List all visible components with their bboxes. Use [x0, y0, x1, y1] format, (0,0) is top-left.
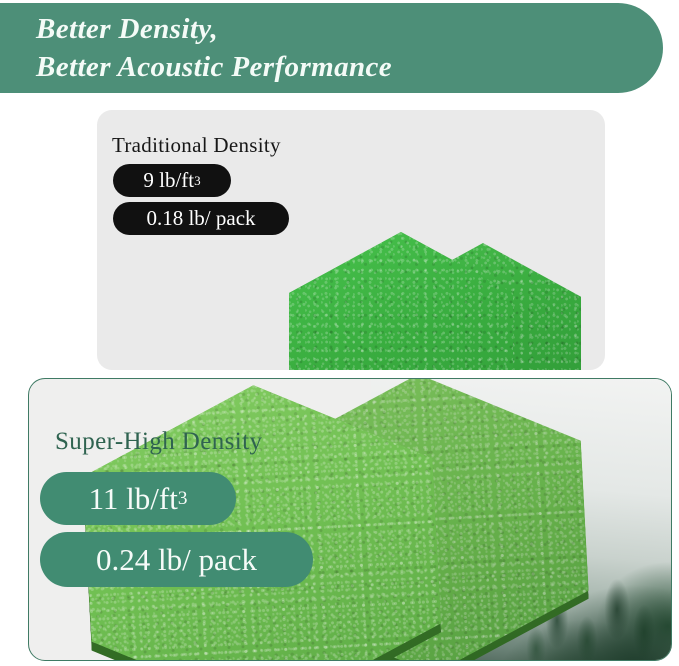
super-high-density-value: 11 lb/ft	[89, 481, 178, 517]
super-high-weight-value: 0.24 lb/ pack	[96, 542, 257, 578]
traditional-density-label: Traditional Density	[112, 133, 281, 158]
super-high-density-label: Super-High Density	[55, 428, 262, 456]
header-title-line-2: Better Acoustic Performance	[36, 48, 663, 86]
header-title-line-1: Better Density,	[36, 10, 663, 48]
traditional-weight-value: 0.18 lb/ pack	[146, 206, 255, 231]
traditional-density-value: 9 lb/ft	[143, 168, 194, 193]
super-high-density-value-badge: 11 lb/ft3	[40, 472, 236, 525]
traditional-density-value-badge: 9 lb/ft3	[113, 164, 231, 197]
super-high-weight-badge: 0.24 lb/ pack	[40, 532, 313, 587]
traditional-weight-badge: 0.18 lb/ pack	[113, 202, 289, 235]
header-banner: Better Density, Better Acoustic Performa…	[0, 3, 663, 93]
